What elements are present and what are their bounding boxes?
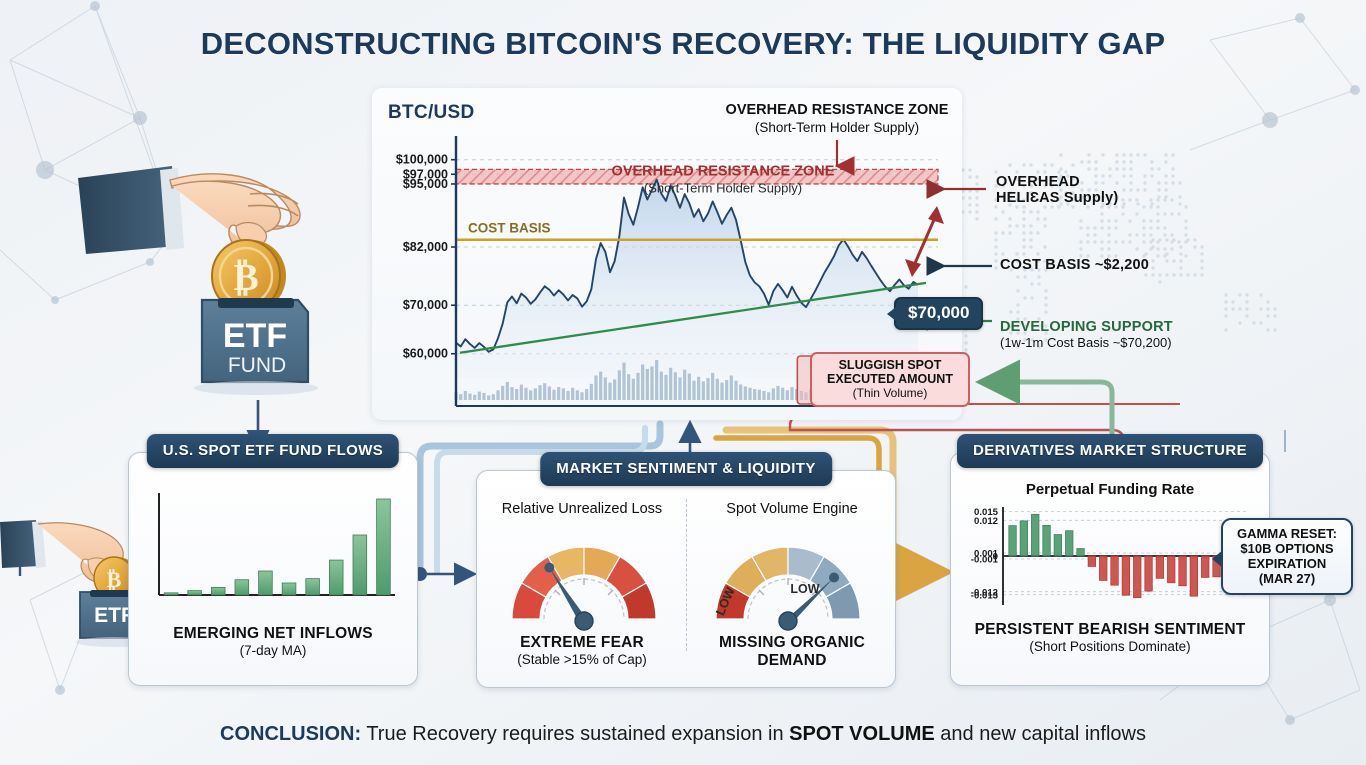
conclusion-tail: and new capital inflows	[935, 723, 1146, 745]
derivatives-caption-line1: PERSISTENT BEARISH SENTIMENT	[951, 621, 1269, 639]
annotation-overhead: OVERHEAD HELIƐAS Supply)	[996, 174, 1118, 206]
panel-sentiment-header: MARKET SENTIMENT & LIQUIDITY	[540, 452, 832, 486]
gauge-right-caption-line2: DEMAND	[687, 652, 897, 670]
panel-market-sentiment: MARKET SENTIMENT & LIQUIDITY Relative Un…	[476, 470, 896, 688]
annotation-cost-basis-line1: COST BASIS ~$2,200	[1000, 257, 1149, 273]
panel-derivatives-caption: PERSISTENT BEARISH SENTIMENT (Short Posi…	[951, 621, 1269, 654]
gauge-right-dial-center-label: LOW	[790, 582, 819, 596]
gauge-spot-volume-engine: LOW LOW	[693, 523, 883, 633]
y-axis-tick: $100,000	[396, 153, 448, 167]
conclusion-mid: True Recovery requires sustained expansi…	[361, 723, 789, 745]
sluggish-line2: EXECUTED AMOUNT	[818, 372, 962, 386]
funding-y-tick: -0.013	[971, 590, 998, 601]
sluggish-volume-callout: SLUGGISH SPOT EXECUTED AMOUNT (Thin Volu…	[810, 352, 970, 407]
annotation-overhead-line1: OVERHEAD	[996, 174, 1118, 190]
page-title: DECONSTRUCTING BITCOIN'S RECOVERY: THE L…	[0, 26, 1366, 62]
funding-y-tick: 0.012	[974, 516, 998, 527]
sluggish-line3: (Thin Volume)	[818, 386, 962, 400]
y-axis-tick: $95,000	[403, 177, 448, 191]
cost-basis-label: COST BASIS	[468, 221, 551, 236]
gauge-right-title: Spot Volume Engine	[697, 501, 887, 517]
resistance-zone-label-line2: (Short-Term Holder Supply)	[644, 181, 802, 196]
current-price-tag: $70,000	[894, 297, 983, 330]
conclusion-text: CONCLUSION: True Recovery requires susta…	[0, 723, 1366, 746]
etf-fund-illustration-large: ₿ ETF FUND	[60, 150, 390, 410]
sentiment-divider	[686, 499, 687, 651]
gamma-reset-callout: GAMMA RESET:$10B OPTIONSEXPIRATION(MAR 2…	[1221, 518, 1353, 595]
etf-caption-line2: (7-day MA)	[129, 643, 417, 658]
gauge-left-caption-line1: EXTREME FEAR	[477, 634, 687, 652]
sluggish-line1: SLUGGISH SPOT	[818, 358, 962, 372]
funding-y-tick: -0.001	[971, 555, 999, 566]
gauge-relative-unrealized-loss	[489, 523, 679, 633]
etf-box-label: ETF	[223, 317, 287, 355]
panel-etf-header: U.S. SPOT ETF FUND FLOWS	[147, 434, 399, 468]
derivatives-caption-line2: (Short Positions Dominate)	[951, 639, 1269, 654]
etf-caption-line1: EMERGING NET INFLOWS	[129, 625, 417, 643]
annotation-cost-basis: COST BASIS ~$2,200	[1000, 257, 1149, 273]
annotation-developing-support: DEVELOPING SUPPORT (1w-1m Cost Basis ~$7…	[1000, 319, 1173, 350]
gauge-left-caption-line2: (Stable >15% of Cap)	[477, 652, 687, 667]
annotation-support-line2: (1w-1m Cost Basis ~$70,200)	[1000, 335, 1173, 350]
panel-etf-fund-flows: U.S. SPOT ETF FUND FLOWS EMERGING NET IN…	[128, 452, 418, 686]
annotation-overhead-line2: HELIƐAS Supply)	[996, 190, 1118, 206]
panel-etf-caption: EMERGING NET INFLOWS (7-day MA)	[129, 625, 417, 658]
conclusion-strong: SPOT VOLUME	[789, 723, 935, 745]
gauge-left-title: Relative Unrealized Loss	[487, 501, 677, 517]
funding-rate-chart-title: Perpetual Funding Rate	[951, 481, 1269, 498]
liquidity-gap-arrow	[905, 206, 944, 277]
y-axis-tick: $60,000	[403, 347, 448, 361]
resistance-zone-label-line1: OVERHEAD RESISTANCE ZONE	[612, 164, 835, 180]
bitcoin-symbol: ₿	[233, 257, 258, 299]
bitcoin-symbol-small: ₿	[107, 567, 122, 592]
panel-derivatives-header: DERIVATIVES MARKET STRUCTURE	[957, 434, 1263, 468]
annotation-support-line1: DEVELOPING SUPPORT	[1000, 319, 1173, 335]
gauge-right-caption: MISSING ORGANIC DEMAND	[687, 634, 897, 670]
overhead-annotation-line2: (Short-Term Holder Supply)	[755, 120, 919, 135]
conclusion-lead: CONCLUSION:	[220, 723, 361, 745]
y-axis-tick: $82,000	[403, 240, 448, 254]
gauge-left-caption: EXTREME FEAR (Stable >15% of Cap)	[477, 634, 687, 667]
overhead-annotation-line1: OVERHEAD RESISTANCE ZONE	[726, 102, 949, 118]
etf-flows-bar-chart	[145, 487, 405, 612]
y-axis-tick: $70,000	[403, 298, 448, 312]
etf-box-sublabel: FUND	[228, 354, 286, 377]
gauge-right-caption-line1: MISSING ORGANIC	[687, 634, 897, 652]
